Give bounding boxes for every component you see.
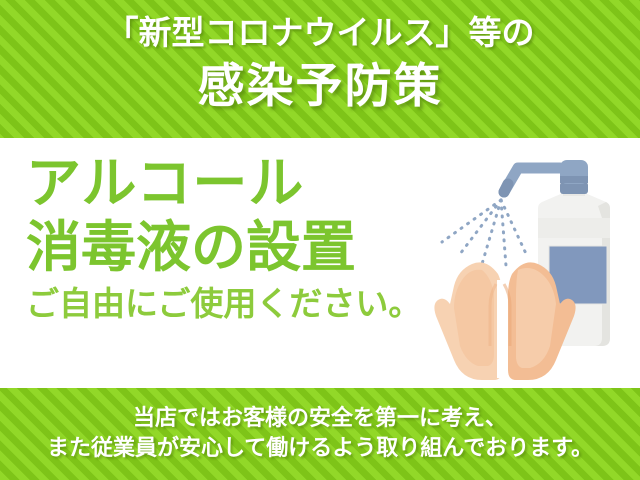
header-title: 感染予防策 <box>198 58 443 116</box>
header-subtitle: 「新型コロナウイルス」等の <box>106 12 535 54</box>
main-subheading: ご自由にご使用ください。 <box>26 282 426 326</box>
poster-header: 「新型コロナウイルス」等の 感染予防策 <box>0 0 640 138</box>
spray-mist-icon <box>442 200 528 266</box>
pump-cap-ring-icon <box>560 176 588 183</box>
main-white-panel: アルコール 消毒液の設置 ご自由にご使用ください。 <box>0 138 640 388</box>
main-heading-line-2: 消毒液の設置 <box>26 214 426 280</box>
covid-prevention-poster: 「新型コロナウイルス」等の 感染予防策 アルコール 消毒液の設置 ご自由にご使用… <box>0 0 640 480</box>
poster-footer: 当店ではお客様の安全を第一に考え、 また従業員が安心して働けるよう取り組んでおり… <box>0 388 640 480</box>
main-heading-line-1: アルコール <box>26 152 426 214</box>
right-thumb-crease-icon <box>504 284 510 346</box>
main-message-block: アルコール 消毒液の設置 ご自由にご使用ください。 <box>26 152 426 326</box>
footer-line-1: 当店ではお客様の安全を第一に考え、 <box>133 404 507 434</box>
footer-line-2: また従業員が安心して働けるよう取り組んでおります。 <box>47 434 593 464</box>
hand-sanitizer-illustration <box>420 146 632 386</box>
pump-nozzle-tip-icon <box>504 184 508 192</box>
bottle-shoulder-icon <box>538 218 610 238</box>
pump-nozzle-arm-icon <box>504 168 560 192</box>
